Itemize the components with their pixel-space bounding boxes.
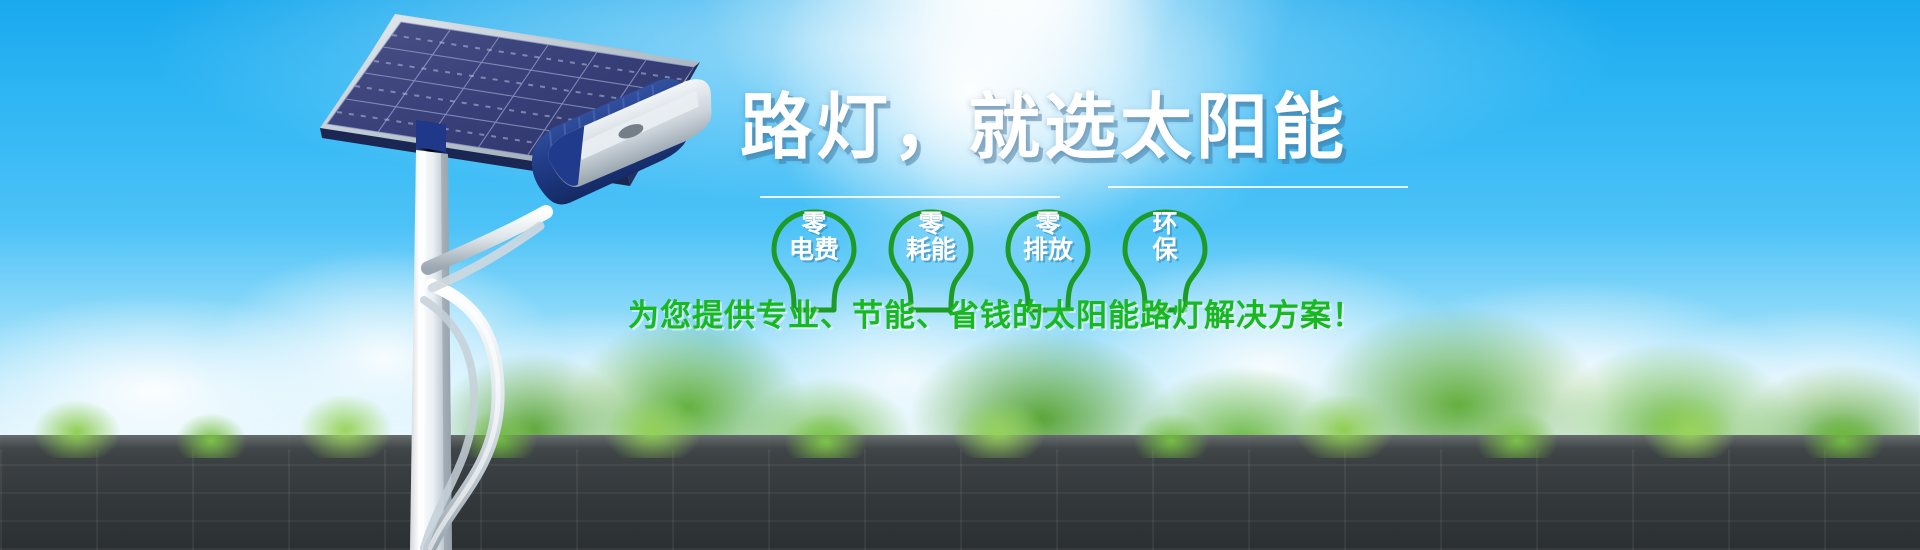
feature-badge-zero: 零 bbox=[760, 212, 868, 238]
feature-badge-word: 耗能 bbox=[877, 238, 985, 264]
feature-badge-word: 电费 bbox=[760, 238, 868, 264]
feature-badge-word: 排放 bbox=[994, 238, 1102, 264]
feature-badge-zero: 零 bbox=[877, 212, 985, 238]
banner-tagline: 为您提供专业、节能、省钱的太阳能路灯解决方案！ bbox=[628, 290, 1364, 335]
page-title: 路灯，就选太阳能 bbox=[740, 92, 1348, 164]
solar-street-light-banner: 路灯，就选太阳能 零 电费 零 耗能 bbox=[0, 0, 1920, 550]
feature-badge-label: 零 耗能 bbox=[877, 212, 985, 263]
feature-badge-label: 零 排放 bbox=[994, 212, 1102, 263]
feature-badge-word: 保 bbox=[1111, 238, 1219, 264]
divider-left bbox=[760, 196, 1060, 198]
divider-right bbox=[1108, 186, 1408, 188]
feature-badge-label: 零 电费 bbox=[760, 212, 868, 263]
feature-badge-zero: 环 bbox=[1111, 212, 1219, 238]
feature-badge-label: 环 保 bbox=[1111, 212, 1219, 263]
feature-badge-zero: 零 bbox=[994, 212, 1102, 238]
banner-copy: 路灯，就选太阳能 零 电费 零 耗能 bbox=[0, 0, 1920, 550]
